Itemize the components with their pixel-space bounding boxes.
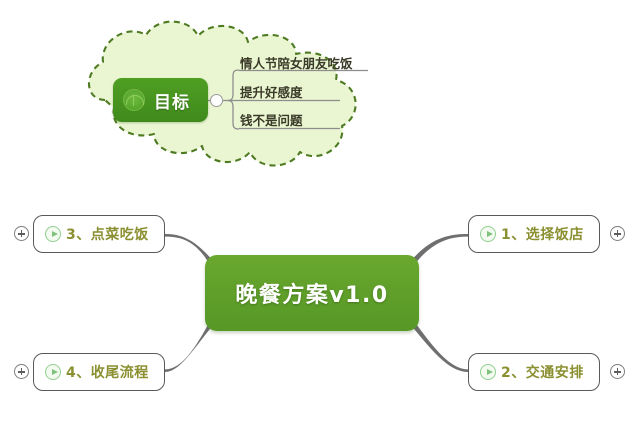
branch-node-2[interactable]: 2、交通安排 [468, 353, 600, 391]
branch-node-4[interactable]: 4、收尾流程 [33, 353, 165, 391]
goal-node-label: 目标 [154, 88, 190, 113]
play-icon [480, 226, 496, 242]
branch-node-4-label: 4、收尾流程 [66, 362, 149, 382]
branch-node-1[interactable]: 1、选择饭店 [468, 215, 600, 253]
goal-subitem-1[interactable]: 情人节陪女朋友吃饭 [240, 57, 353, 71]
play-icon [45, 226, 61, 242]
branch-node-1-label: 1、选择饭店 [501, 224, 584, 244]
center-node[interactable]: 晚餐方案v1.0 [205, 255, 419, 331]
goal-junction-dot[interactable] [210, 94, 223, 107]
branch-node-3-label: 3、点菜吃饭 [66, 224, 149, 244]
branch-node-3[interactable]: 3、点菜吃饭 [33, 215, 165, 253]
expand-icon-branch-1[interactable] [610, 226, 625, 241]
goal-node[interactable]: 目标 [113, 78, 208, 122]
play-icon [45, 364, 61, 380]
center-node-label: 晚餐方案v1.0 [235, 277, 388, 309]
branch-node-2-label: 2、交通安排 [501, 362, 584, 382]
expand-icon-branch-2[interactable] [610, 364, 625, 379]
play-icon [480, 364, 496, 380]
mindmap-canvas: 目标 情人节陪女朋友吃饭 提升好感度 钱不是问题 晚餐方案v1.0 3、点菜吃饭… [0, 0, 640, 431]
globe-icon [123, 89, 145, 111]
goal-subitem-2[interactable]: 提升好感度 [240, 86, 303, 100]
expand-icon-branch-4[interactable] [14, 364, 29, 379]
goal-subitem-3[interactable]: 钱不是问题 [240, 114, 303, 128]
expand-icon-branch-3[interactable] [14, 226, 29, 241]
